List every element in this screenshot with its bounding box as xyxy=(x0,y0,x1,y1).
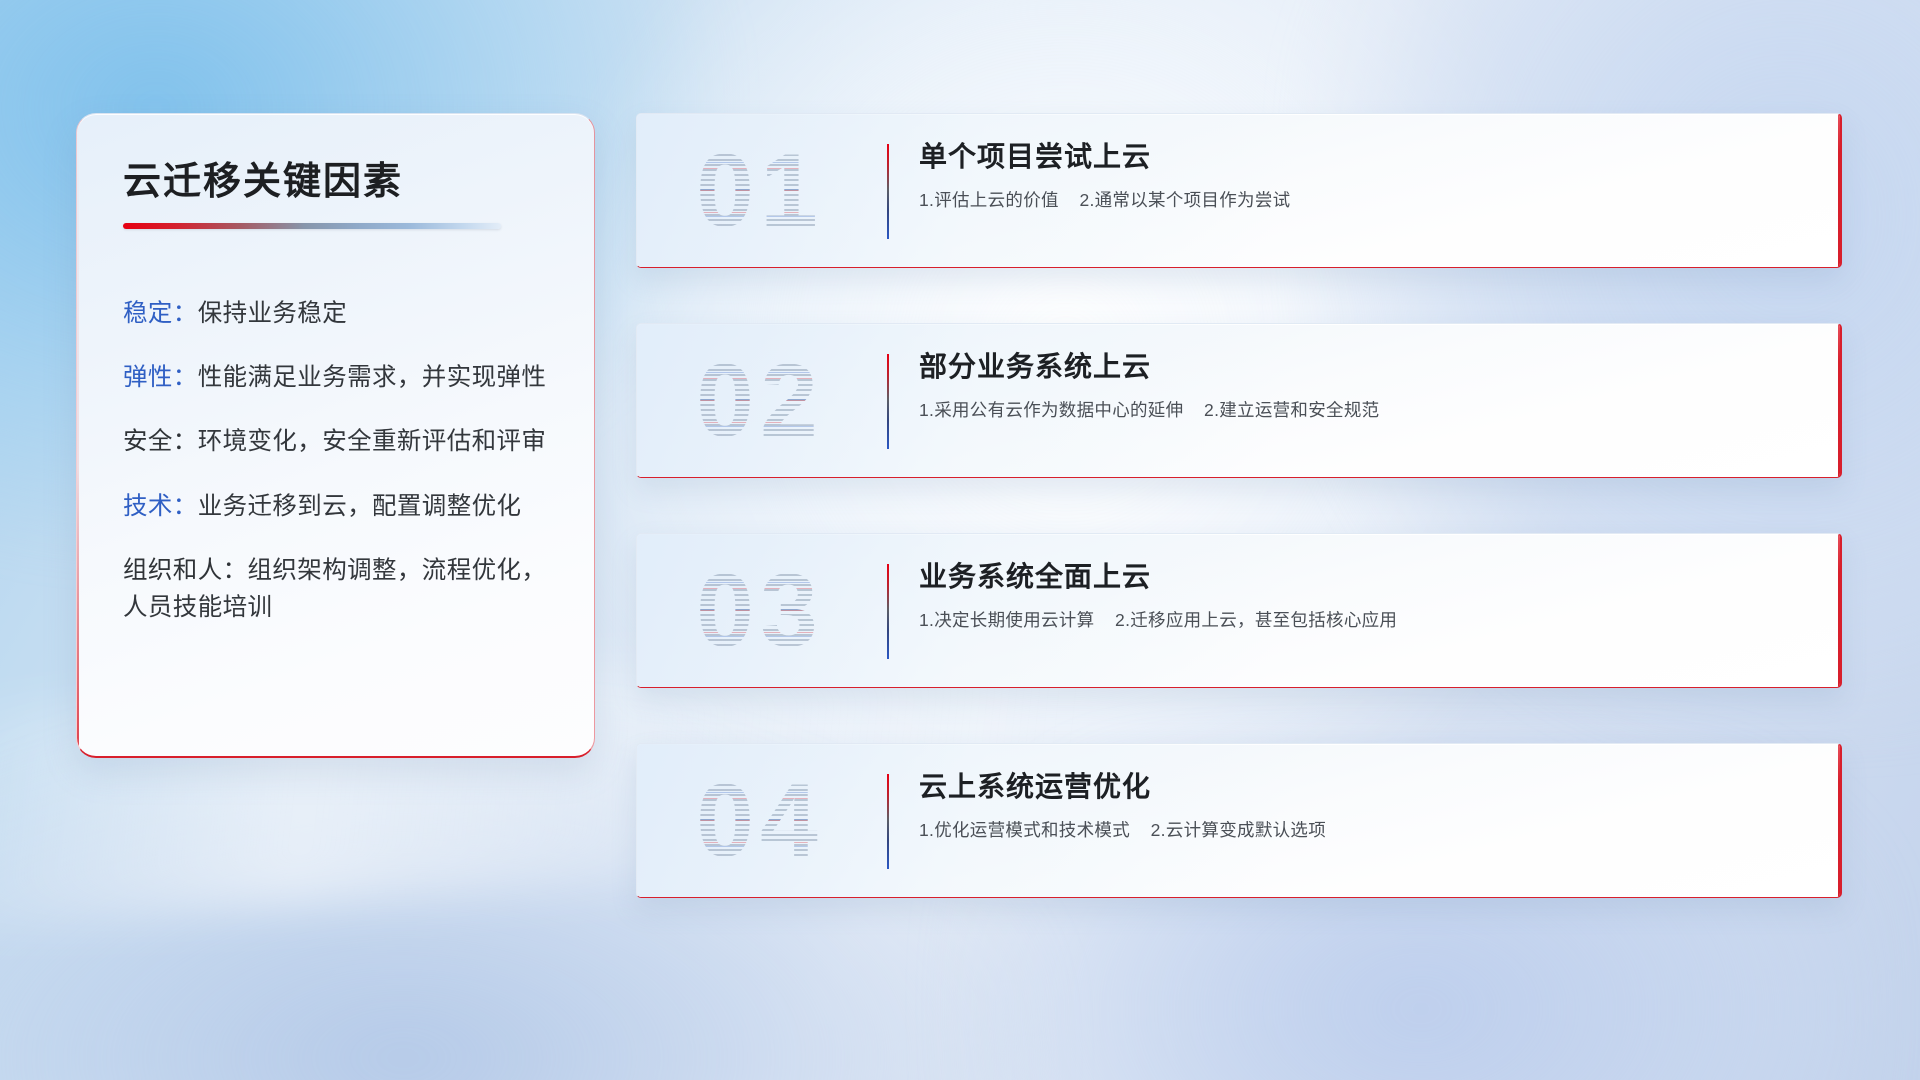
card-body: 业务系统全面上云1.决定长期使用云计算 2.迁移应用上云，甚至包括核心应用 xyxy=(919,560,1806,633)
slide-stage: 云迁移关键因素 稳定：保持业务稳定弹性：性能满足业务需求，并实现弹性安全：环境变… xyxy=(0,0,1920,1080)
key-factors-panel: 云迁移关键因素 稳定：保持业务稳定弹性：性能满足业务需求，并实现弹性安全：环境变… xyxy=(76,113,595,758)
card-title: 单个项目尝试上云 xyxy=(919,140,1806,174)
factor-label: 安全： xyxy=(123,428,198,455)
factor-text: 保持业务稳定 xyxy=(198,300,347,327)
page-title: 云迁移关键因素 xyxy=(123,162,554,204)
card-description: 1.采用公有云作为数据中心的延伸 2.建立运营和安全规范 xyxy=(919,398,1806,423)
factor-row: 技术：业务迁移到云，配置调整优化 xyxy=(123,488,554,525)
stage-number-tint: 04 xyxy=(665,754,855,889)
card-body: 云上系统运营优化1.优化运营模式和技术模式 2.云计算变成默认选项 xyxy=(919,770,1806,843)
factor-label: 技术： xyxy=(123,493,198,520)
factor-list: 稳定：保持业务稳定弹性：性能满足业务需求，并实现弹性安全：环境变化，安全重新评估… xyxy=(123,295,554,626)
factor-text: 业务迁移到云，配置调整优化 xyxy=(198,493,522,520)
card-description: 1.评估上云的价值 2.通常以某个项目作为尝试 xyxy=(919,188,1806,213)
factor-row: 组织和人：组织架构调整，流程优化，人员技能培训 xyxy=(123,552,554,626)
factor-row: 安全：环境变化，安全重新评估和评审 xyxy=(123,423,554,460)
factor-text: 性能满足业务需求，并实现弹性 xyxy=(198,364,547,391)
factor-label: 组织和人： xyxy=(123,557,248,584)
card-description: 1.决定长期使用云计算 2.迁移应用上云，甚至包括核心应用 xyxy=(919,608,1806,633)
panel-content: 云迁移关键因素 稳定：保持业务稳定弹性：性能满足业务需求，并实现弹性安全：环境变… xyxy=(77,114,594,756)
card-title: 部分业务系统上云 xyxy=(919,350,1806,384)
stage-card[interactable]: 0101单个项目尝试上云1.评估上云的价值 2.通常以某个项目作为尝试 xyxy=(636,113,1842,268)
title-underline-accent xyxy=(123,223,501,229)
stage-card[interactable]: 0202部分业务系统上云1.采用公有云作为数据中心的延伸 2.建立运营和安全规范 xyxy=(636,323,1842,478)
stage-number-tint: 02 xyxy=(665,334,855,469)
stage-number-tint: 01 xyxy=(665,124,855,259)
stage-card[interactable]: 0404云上系统运营优化1.优化运营模式和技术模式 2.云计算变成默认选项 xyxy=(636,743,1842,898)
factor-label: 弹性： xyxy=(123,364,198,391)
stage-card[interactable]: 0303业务系统全面上云1.决定长期使用云计算 2.迁移应用上云，甚至包括核心应… xyxy=(636,533,1842,688)
card-divider xyxy=(887,144,889,239)
card-body: 部分业务系统上云1.采用公有云作为数据中心的延伸 2.建立运营和安全规范 xyxy=(919,350,1806,423)
factor-row: 稳定：保持业务稳定 xyxy=(123,295,554,332)
card-title: 业务系统全面上云 xyxy=(919,560,1806,594)
card-title: 云上系统运营优化 xyxy=(919,770,1806,804)
factor-row: 弹性：性能满足业务需求，并实现弹性 xyxy=(123,359,554,396)
factor-text: 环境变化，安全重新评估和评审 xyxy=(198,428,547,455)
card-divider xyxy=(887,354,889,449)
card-divider xyxy=(887,564,889,659)
stage-card-list: 0101单个项目尝试上云1.评估上云的价值 2.通常以某个项目作为尝试0202部… xyxy=(636,113,1842,953)
stage-number-tint: 03 xyxy=(665,544,855,679)
factor-label: 稳定： xyxy=(123,300,198,327)
card-body: 单个项目尝试上云1.评估上云的价值 2.通常以某个项目作为尝试 xyxy=(919,140,1806,213)
card-divider xyxy=(887,774,889,869)
card-description: 1.优化运营模式和技术模式 2.云计算变成默认选项 xyxy=(919,818,1806,843)
